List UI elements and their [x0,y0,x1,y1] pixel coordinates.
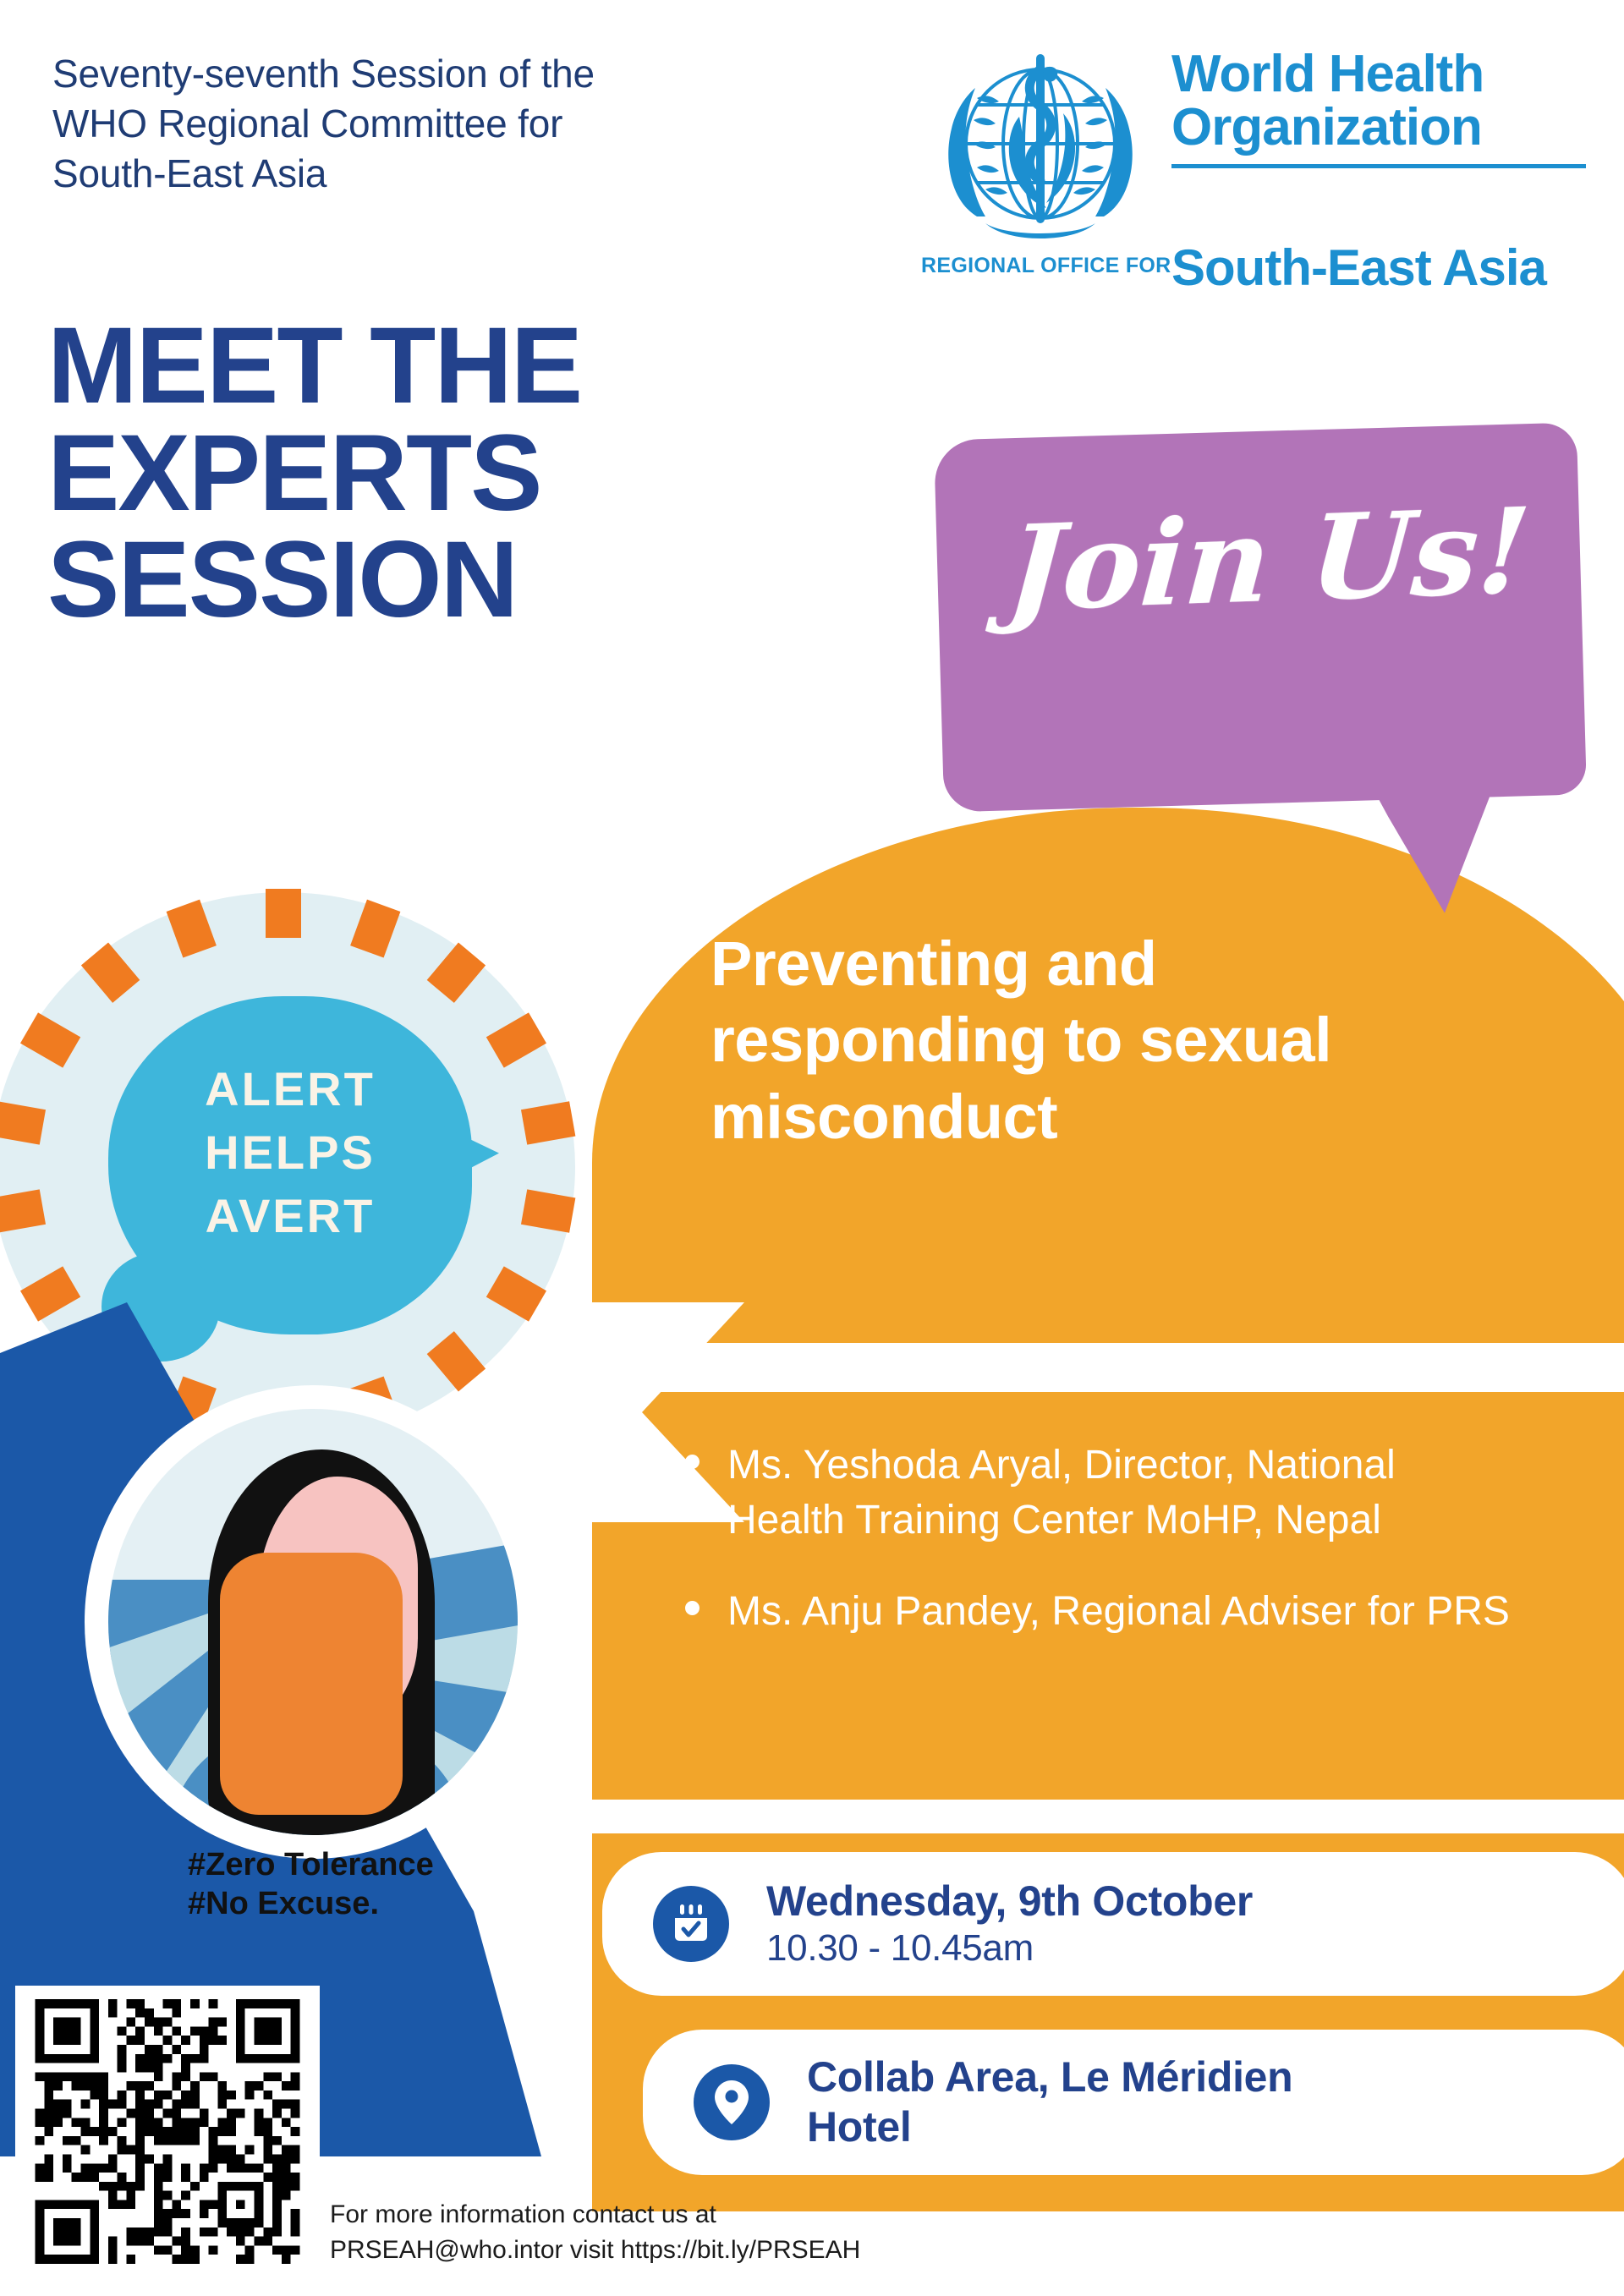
speaker-list: Ms. Yeshoda Aryal, Director, National He… [677,1438,1590,1674]
session-title-line-3: South-East Asia [52,149,814,199]
event-time: 10.30 - 10.45am [766,1926,1253,1971]
event-date: Wednesday, 9th October [766,1877,1253,1926]
venue-line-1: Collab Area, Le Méridien [807,2052,1292,2102]
list-item: Ms. Anju Pandey, Regional Adviser for PR… [677,1584,1590,1639]
page-title-line-3: SESSION [47,527,927,634]
badge-dash [0,1189,46,1232]
who-region-name: South-East Asia [1171,238,1546,297]
alert-line-2: HELPS [108,1121,472,1184]
page-title-line-2: EXPERTS [47,420,927,528]
speaker-1-line-2: Health Training Center MoHP, Nepal [727,1493,1590,1548]
session-topic-line-2: responding to sexual [710,1002,1590,1078]
session-topic-line-3: misconduct [710,1079,1590,1155]
list-item: Ms. Yeshoda Aryal, Director, National He… [677,1438,1590,1548]
badge-dash [427,1331,486,1391]
who-logo: World Health Organization REGIONAL OFFIC… [918,32,1586,294]
qr-code-panel[interactable] [15,1986,320,2277]
illustration-canvas [108,1409,518,1835]
calendar-icon [653,1886,729,1962]
stop-gesture-illustration [85,1385,541,1859]
badge-dash [20,1266,80,1321]
footer-contact: For more information contact us at PRSEA… [330,2197,1091,2268]
page-title: MEET THE EXPERTS SESSION [47,313,927,634]
finger-2 [274,1559,304,1664]
finger-3 [313,1566,343,1664]
finger-4 [352,1588,382,1666]
location-pill: Collab Area, Le Méridien Hotel [643,2030,1624,2175]
badge-dash [0,1101,46,1144]
hashtag-zero-tolerance: #Zero Tolerance [188,1845,526,1884]
who-regional-label: REGIONAL OFFICE FOR [921,254,1171,278]
speaker-2-line-1: Ms. Anju Pandey, Regional Adviser for PR… [727,1584,1590,1639]
hashtag-block: #Zero Tolerance #No Excuse. [188,1845,526,1924]
badge-dash [266,889,301,938]
finger-1 [235,1588,266,1664]
session-topic: Preventing and responding to sexual misc… [710,926,1590,1155]
venue-line-2: Hotel [807,2102,1292,2152]
badge-dash [81,942,140,1002]
hashtag-no-excuse: #No Excuse. [188,1884,526,1923]
who-region-row: REGIONAL OFFICE FOR South-East Asia [918,242,1586,293]
badge-dash [486,1266,546,1321]
qr-code-icon[interactable] [29,1999,306,2264]
badge-dash [427,942,486,1002]
badge-dash [521,1101,575,1144]
band-separator-bottom [592,1800,1624,1833]
page-title-line-1: MEET THE [47,313,927,420]
badge-dash [167,900,217,958]
session-title-line-1: Seventy-seventh Session of the [52,49,814,99]
location-text: Collab Area, Le Méridien Hotel [807,2052,1292,2152]
who-name-line-2: Organization [1171,101,1586,154]
footer-line-2: PRSEAH@who.intor visit https://bit.ly/PR… [330,2233,1091,2268]
badge-dash [486,1012,546,1067]
badge-dash [521,1189,575,1232]
band-separator-top [626,1343,1624,1392]
session-topic-line-1: Preventing and [710,926,1590,1002]
date-time-text: Wednesday, 9th October 10.30 - 10.45am [766,1877,1253,1971]
footer-line-1: For more information contact us at [330,2197,1091,2233]
date-time-pill: Wednesday, 9th October 10.30 - 10.45am [602,1852,1624,1996]
bullet-icon [685,1601,700,1615]
bullet-icon [685,1455,700,1469]
join-us-label: Join Us! [976,480,1561,638]
who-divider [1171,164,1586,168]
alert-line-1: ALERT [108,1057,472,1121]
badge-dash [20,1012,80,1067]
alert-helps-avert-label: ALERT HELPS AVERT [108,1057,472,1247]
session-title-line-2: WHO Regional Committee for [52,99,814,149]
who-emblem-icon [918,36,1163,272]
map-pin-icon [694,2064,770,2140]
who-wordmark: World Health Organization [1171,47,1586,177]
badge-dash [350,900,400,958]
speaker-1-line-1: Ms. Yeshoda Aryal, Director, National [727,1438,1590,1493]
session-title: Seventy-seventh Session of the WHO Regio… [52,49,814,199]
who-name-line-1: World Health [1171,47,1586,101]
alert-line-3: AVERT [108,1184,472,1247]
